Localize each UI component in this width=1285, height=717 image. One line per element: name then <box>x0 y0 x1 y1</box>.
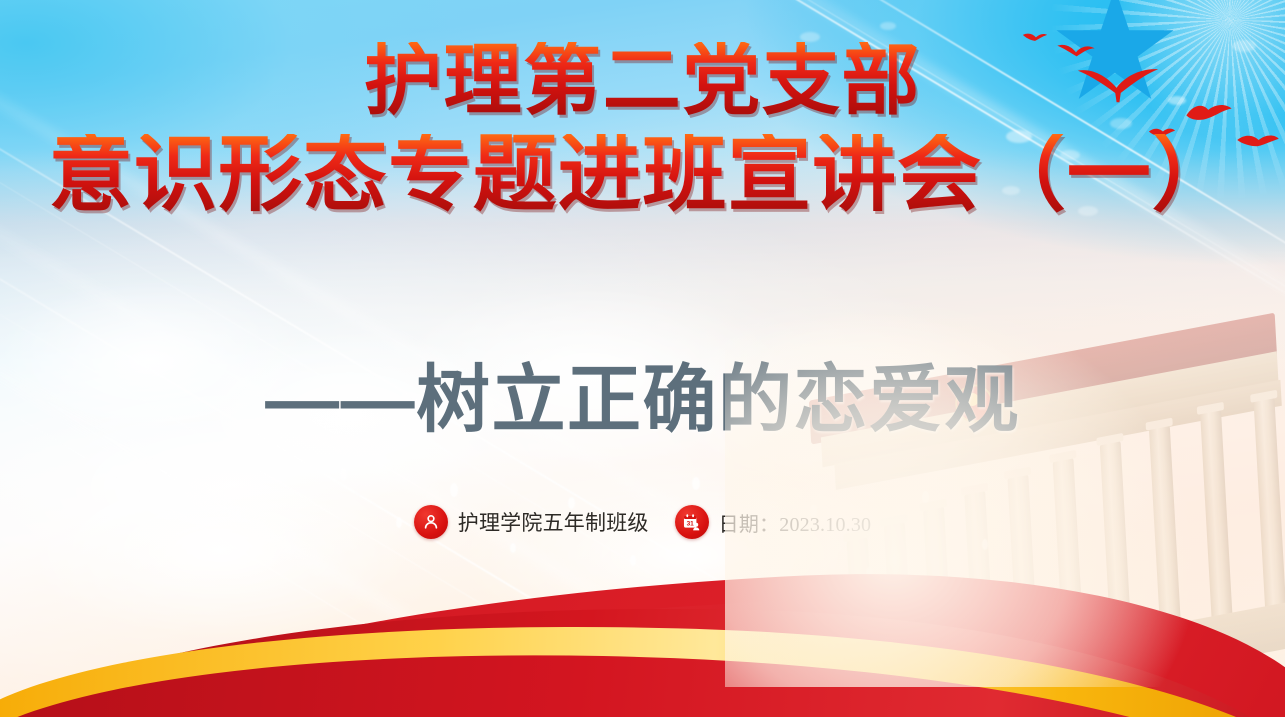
person-icon <box>414 505 448 539</box>
organizer-label: 护理学院五年制班级 <box>458 507 649 537</box>
bokeh-dot <box>880 22 896 30</box>
organizer-item: 护理学院五年制班级 <box>414 505 649 539</box>
title-block: 护理第二党支部 意识形态专题进班宣讲会（一） <box>0 42 1285 218</box>
warm-haze-front <box>725 267 1285 687</box>
title-line-1: 护理第二党支部 <box>0 42 1285 120</box>
calendar-icon: 31 <box>675 505 709 539</box>
slide-canvas: 护理第二党支部 意识形态专题进班宣讲会（一） ——树立正确的恋爱观 护理学院五年… <box>0 0 1285 717</box>
title-line-2: 意识形态专题进班宣讲会（一） <box>0 134 1285 218</box>
svg-text:31: 31 <box>687 520 695 527</box>
